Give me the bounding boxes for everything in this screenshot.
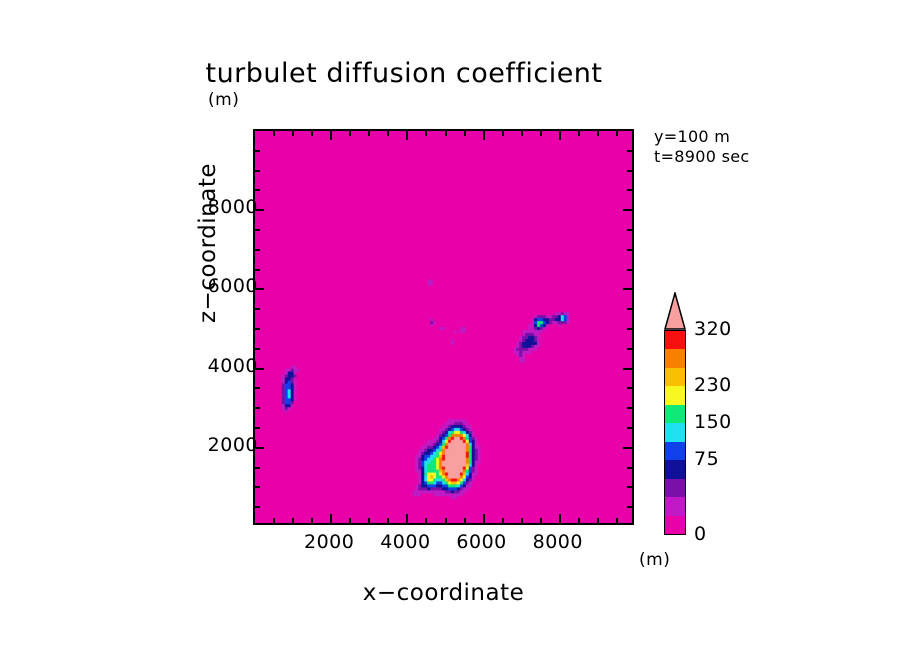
y-axis-minor-tick [255, 308, 260, 310]
colorbar-unit-label: (m) [639, 550, 670, 570]
x-axis-top-tick [368, 131, 370, 136]
y-axis-right-tick [627, 427, 632, 429]
x-axis-top-tick [483, 131, 485, 140]
x-axis-top-tick [349, 131, 351, 136]
x-axis-minor-tick [464, 518, 466, 523]
y-axis-tick-label: 6000 [178, 275, 258, 297]
colorbar [664, 292, 686, 535]
colorbar-band [665, 516, 685, 534]
colorbar-band [665, 349, 685, 367]
x-axis-major-tick [330, 514, 332, 523]
x-axis-minor-tick [368, 518, 370, 523]
colorbar-band [665, 331, 685, 349]
x-axis-major-tick [559, 514, 561, 523]
y-axis-right-tick [627, 328, 632, 330]
x-axis-minor-tick [521, 518, 523, 523]
x-axis-tick-label: 6000 [442, 531, 522, 553]
y-axis-right-tick [623, 288, 632, 290]
y-axis-minor-tick [255, 506, 260, 508]
x-axis-tick-label: 2000 [289, 531, 369, 553]
colorbar-band [665, 479, 685, 497]
x-axis-top-tick [578, 131, 580, 136]
x-axis-top-tick [502, 131, 504, 136]
x-axis-minor-tick [349, 518, 351, 523]
x-axis-top-tick [406, 131, 408, 140]
y-axis-right-tick [627, 467, 632, 469]
x-axis-minor-tick [273, 518, 275, 523]
y-axis-minor-tick [255, 387, 260, 389]
y-axis-right-tick [623, 447, 632, 449]
y-axis-right-tick [627, 486, 632, 488]
y-axis-minor-tick [255, 348, 260, 350]
x-axis-minor-tick [445, 518, 447, 523]
colorbar-band [665, 405, 685, 423]
x-axis-tick-label: 4000 [365, 531, 445, 553]
x-axis-minor-tick [616, 518, 618, 523]
contour-field-canvas [255, 131, 632, 523]
x-axis-minor-tick [425, 518, 427, 523]
y-axis-minor-tick [255, 328, 260, 330]
x-axis-minor-tick [597, 518, 599, 523]
y-axis-minor-tick [255, 427, 260, 429]
y-axis-right-tick [627, 150, 632, 152]
y-axis-right-tick [627, 249, 632, 251]
y-axis-minor-tick [255, 189, 260, 191]
x-axis-top-tick [559, 131, 561, 140]
y-axis-right-tick [627, 170, 632, 172]
y-axis-minor-tick [255, 229, 260, 231]
y-axis-unit-label: (m) [208, 90, 239, 110]
x-axis-top-tick [445, 131, 447, 136]
x-axis-top-tick [330, 131, 332, 140]
y-axis-right-tick [627, 387, 632, 389]
colorbar-tick-label: 230 [694, 374, 732, 396]
y-axis-right-tick [627, 407, 632, 409]
annotation-line-t: t=8900 sec [654, 147, 749, 167]
y-axis-right-tick [627, 229, 632, 231]
annotation-line-y: y=100 m [654, 127, 749, 147]
contour-plot-area [253, 129, 634, 525]
page-title: turbulet diffusion coefficient [0, 58, 904, 89]
x-axis-tick-label: 8000 [518, 531, 598, 553]
x-axis-minor-tick [502, 518, 504, 523]
x-axis-top-tick [616, 131, 618, 136]
x-axis-top-tick [387, 131, 389, 136]
y-axis-minor-tick [255, 486, 260, 488]
x-axis-top-tick [425, 131, 427, 136]
x-axis-top-tick [464, 131, 466, 136]
y-axis-right-tick [627, 308, 632, 310]
y-axis-minor-tick [255, 467, 260, 469]
colorbar-band [665, 460, 685, 478]
colorbar-tick-label: 0 [694, 523, 707, 545]
y-axis-right-tick [623, 209, 632, 211]
x-axis-major-tick [406, 514, 408, 523]
y-axis-tick-label: 2000 [178, 434, 258, 456]
x-axis-top-tick [521, 131, 523, 136]
y-axis-right-tick [627, 269, 632, 271]
x-axis-top-tick [311, 131, 313, 136]
y-axis-title: z−coordinate [195, 143, 221, 343]
x-axis-top-tick [273, 131, 275, 136]
y-axis-tick-label: 8000 [178, 196, 258, 218]
y-axis-minor-tick [255, 249, 260, 251]
x-axis-minor-tick [292, 518, 294, 523]
x-axis-minor-tick [578, 518, 580, 523]
y-axis-right-tick [627, 189, 632, 191]
y-axis-right-tick [627, 348, 632, 350]
colorbar-band [665, 368, 685, 386]
colorbar-bands [664, 330, 686, 535]
colorbar-band [665, 497, 685, 515]
y-axis-minor-tick [255, 170, 260, 172]
y-axis-right-tick [623, 368, 632, 370]
colorbar-tick-label: 150 [694, 411, 732, 433]
colorbar-band [665, 423, 685, 441]
y-axis-minor-tick [255, 150, 260, 152]
x-axis-minor-tick [540, 518, 542, 523]
x-axis-top-tick [597, 131, 599, 136]
colorbar-band [665, 442, 685, 460]
colorbar-band [665, 386, 685, 404]
colorbar-tick-label: 75 [694, 448, 719, 470]
y-axis-minor-tick [255, 407, 260, 409]
y-axis-right-tick [627, 506, 632, 508]
x-axis-title: x−coordinate [253, 580, 634, 606]
x-axis-top-tick [540, 131, 542, 136]
figure-canvas: turbulet diffusion coefficient (m) (m) y… [0, 0, 904, 654]
x-axis-minor-tick [387, 518, 389, 523]
y-axis-minor-tick [255, 269, 260, 271]
y-axis-tick-label: 4000 [178, 355, 258, 377]
colorbar-extend-arrow-icon [664, 292, 686, 330]
x-axis-top-tick [292, 131, 294, 136]
chart-title-text: turbulet diffusion coefficient [205, 58, 602, 89]
x-axis-major-tick [483, 514, 485, 523]
plot-annotation: y=100 m t=8900 sec [654, 127, 749, 167]
x-axis-minor-tick [311, 518, 313, 523]
colorbar-tick-label: 320 [694, 318, 732, 340]
